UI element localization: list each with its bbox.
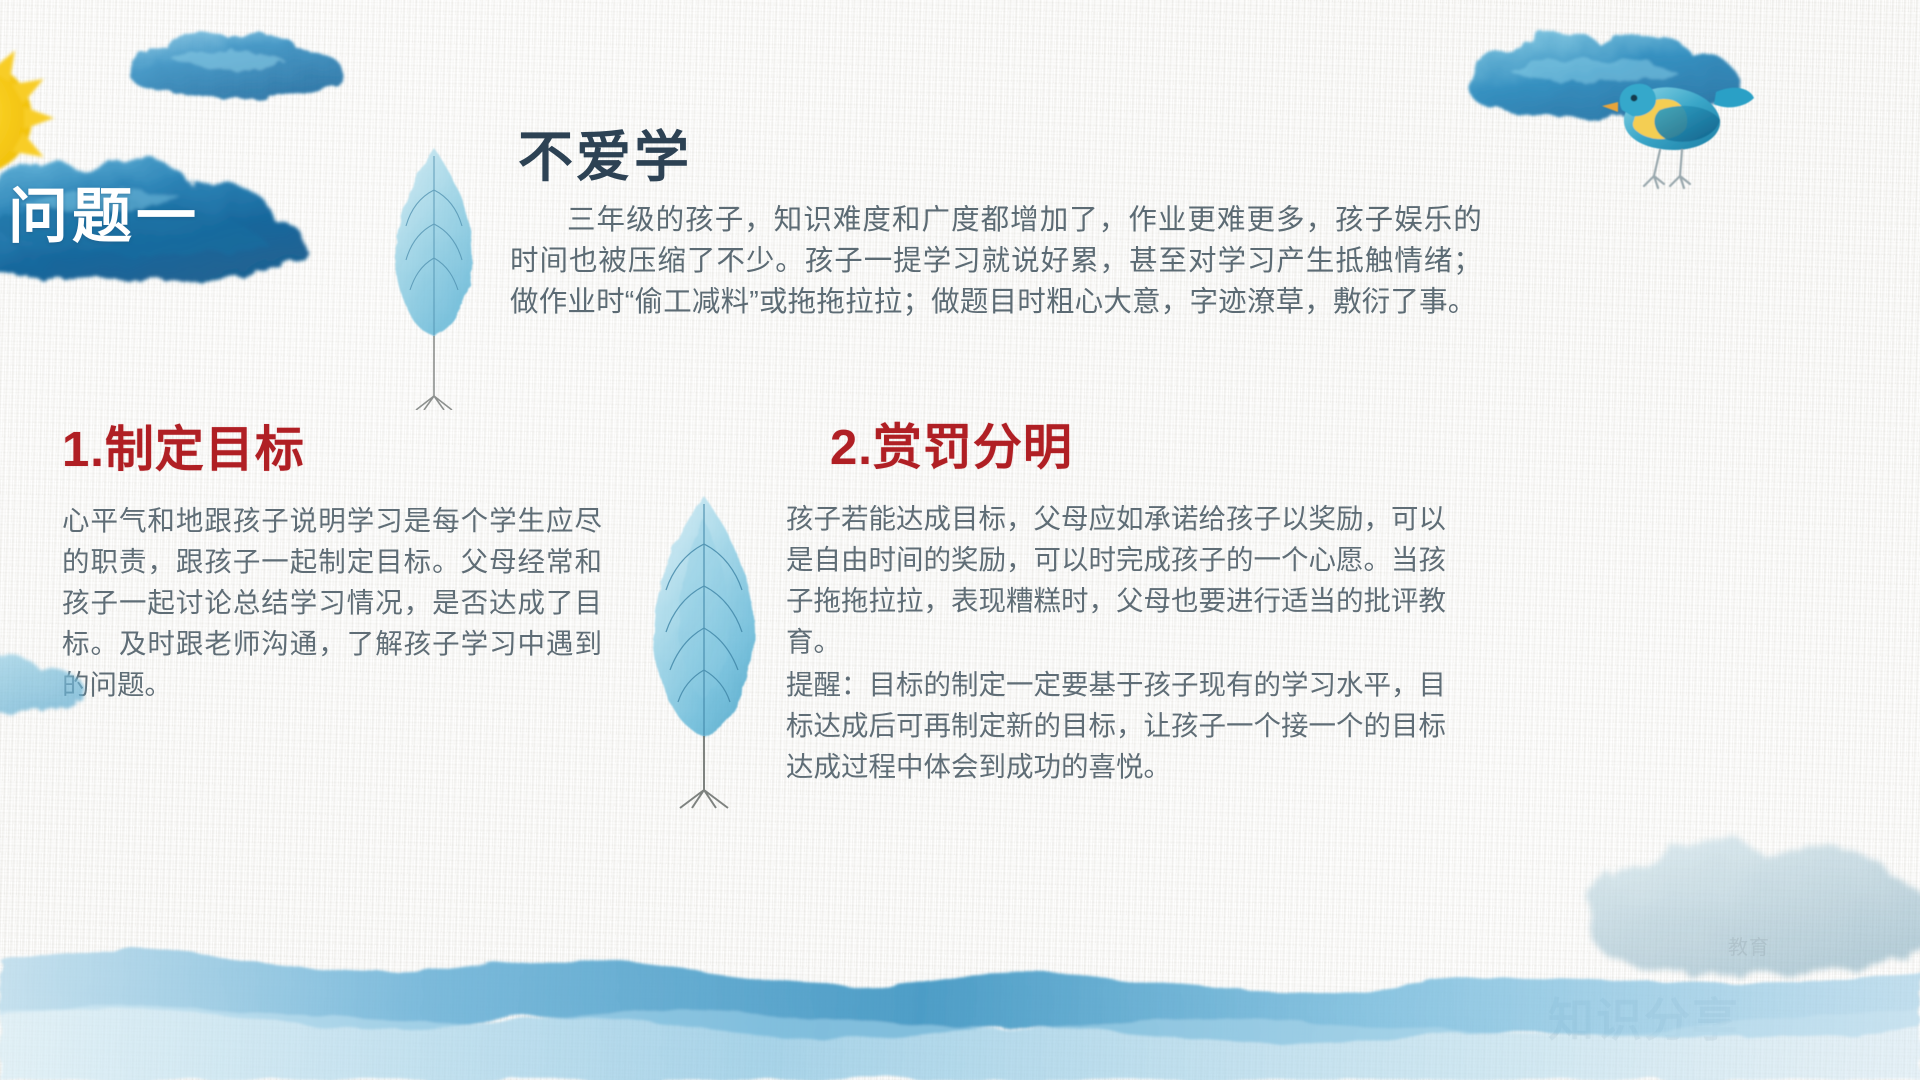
watercolor-wave xyxy=(0,900,1920,1080)
section-2-body: 孩子若能达成目标，父母应如承诺给孩子以奖励，可以是自由时间的奖励，可以时完成孩子… xyxy=(786,498,1446,662)
intro-paragraph: 三年级的孩子，知识难度和广度都增加了，作业更难更多，孩子娱乐的时间也被压缩了不少… xyxy=(510,200,1482,323)
section-2-heading: 2.赏罚分明 xyxy=(830,408,1073,479)
page-title: 问题一 xyxy=(0,168,200,255)
section-1-body: 心平气和地跟孩子说明学习是每个学生应尽的职责，跟孩子一起制定目标。父母经常和孩子… xyxy=(62,500,602,705)
watercolor-cloud-left-edge xyxy=(0,640,110,730)
watercolor-tree-left xyxy=(352,140,517,410)
section-1-heading: 1.制定目标 xyxy=(62,410,305,481)
section-2-note: 提醒：目标的制定一定要基于孩子现有的学习水平，目标达成后可再制定新的目标，让孩子… xyxy=(786,664,1446,787)
main-heading: 不爱学 xyxy=(518,112,692,192)
slide-canvas: 问题一 xyxy=(0,0,1920,1080)
problem-title-badge: 问题一 xyxy=(0,165,360,257)
intro-paragraph-block: 三年级的孩子，知识难度和广度都增加了，作业更难更多，孩子娱乐的时间也被压缩了不少… xyxy=(510,200,1482,323)
section-2-body-block: 孩子若能达成目标，父母应如承诺给孩子以奖励，可以是自由时间的奖励，可以时完成孩子… xyxy=(786,498,1446,787)
watercolor-tree-center xyxy=(600,490,810,810)
watercolor-cloud-topleft xyxy=(110,18,370,110)
bird-icon xyxy=(1598,58,1758,198)
